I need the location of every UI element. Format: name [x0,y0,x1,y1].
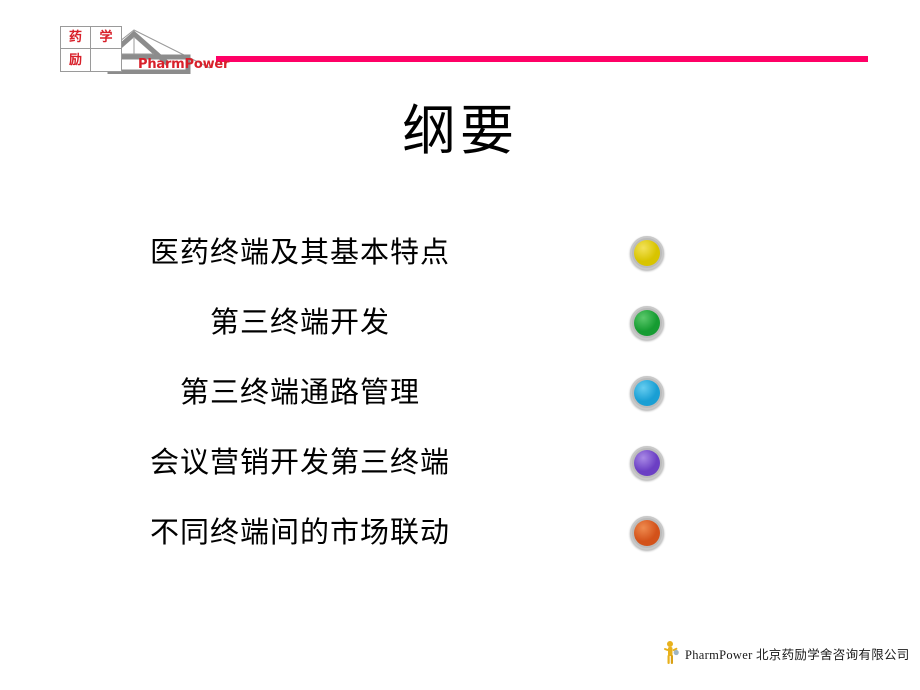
outline-list: 医药终端及其基本特点 第三终端开发 第三终端通路管理 会议营销开发第三终端 不同 [0,218,920,568]
list-item[interactable]: 不同终端间的市场联动 [0,498,920,568]
page-title: 纲要 [0,104,920,158]
list-item[interactable]: 第三终端通路管理 [0,358,920,428]
outline-item-label-4: 会议营销开发第三终端 [0,447,600,479]
outline-item-label-3: 第三终端通路管理 [0,377,600,409]
logo-wordmark: PharmPower [138,57,229,72]
slide-canvas: 药 学 励 PharmPower 纲要 医药终端及其基本特点 第三终端开发 第三… [0,0,920,690]
bullet-cyan [630,376,664,410]
logo-char-yao: 药 [61,27,91,49]
list-item[interactable]: 第三终端开发 [0,288,920,358]
logo-character-grid: 药 学 励 [60,26,122,72]
pharmpower-mascot-icon [663,640,679,666]
footer-company-text: PharmPower 北京药励学舍咨询有限公司 [685,644,910,663]
pharmpower-logo: 药 学 励 PharmPower [60,24,212,74]
bullet-green [630,306,664,340]
outline-item-label-1: 医药终端及其基本特点 [0,237,600,269]
list-item[interactable]: 会议营销开发第三终端 [0,428,920,498]
logo-char-blank [91,49,121,71]
list-item[interactable]: 医药终端及其基本特点 [0,218,920,288]
bullet-gold [630,236,664,270]
bullet-purple [630,446,664,480]
bullet-orange [630,516,664,550]
outline-item-label-2: 第三终端开发 [0,307,600,339]
header-divider-rule [216,56,868,62]
outline-item-label-5: 不同终端间的市场联动 [0,517,600,549]
logo-char-xue: 学 [91,27,121,49]
logo-char-li: 励 [61,49,91,71]
footer: PharmPower 北京药励学舍咨询有限公司 [663,640,910,666]
